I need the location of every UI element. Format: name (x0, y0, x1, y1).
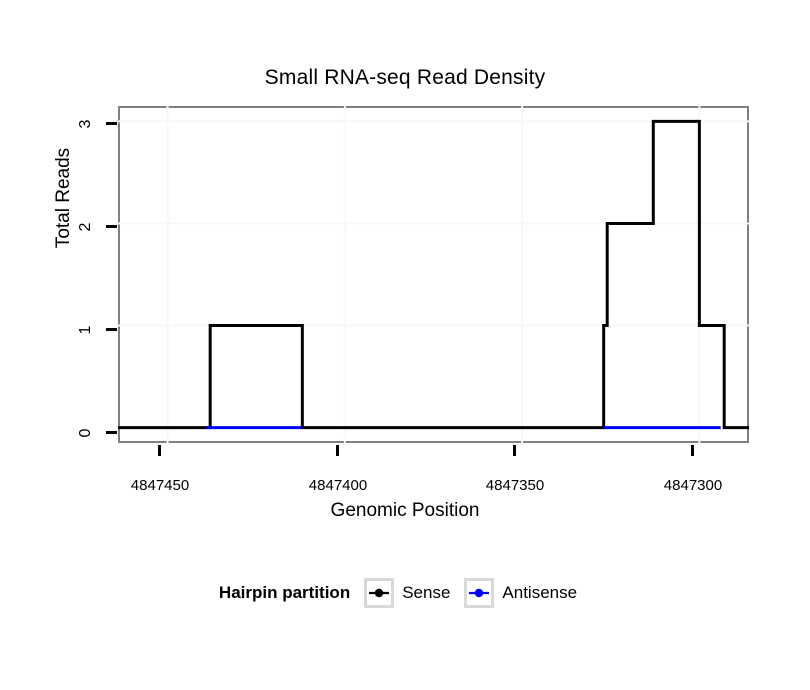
y-axis-title: Total Reads (53, 118, 75, 278)
y-tick-label-2: 2 (77, 215, 95, 239)
chart-title: Small RNA-seq Read Density (0, 66, 810, 90)
legend-title: Hairpin partition (219, 583, 350, 603)
legend: Hairpin partition Sense Antisense (0, 578, 810, 608)
legend-item-sense[interactable]: Sense (364, 578, 450, 608)
x-tick-mark-4847300 (691, 445, 694, 456)
x-tick-mark-4847450 (158, 445, 161, 456)
x-axis-title: Genomic Position (0, 500, 810, 522)
x-tick-label-4847400: 4847400 (309, 477, 367, 494)
plot-area (118, 106, 749, 443)
line-point-icon (468, 582, 490, 604)
line-point-icon (368, 582, 390, 604)
x-tick-label-4847300: 4847300 (664, 477, 722, 494)
y-tick-mark-0 (106, 431, 117, 434)
x-tick-mark-4847400 (336, 445, 339, 456)
x-tick-mark-4847350 (513, 445, 516, 456)
legend-label-sense: Sense (402, 583, 450, 603)
x-tick-label-4847350: 4847350 (486, 477, 544, 494)
y-tick-label-3: 3 (77, 112, 95, 136)
legend-item-antisense[interactable]: Antisense (464, 578, 577, 608)
chart-figure: Small RNA-seq Read Density Total Reads 3… (0, 0, 810, 690)
x-tick-label-4847450: 4847450 (131, 477, 189, 494)
series-line-sense (118, 121, 749, 427)
y-tick-mark-1 (106, 328, 117, 331)
legend-label-antisense: Antisense (502, 583, 577, 603)
data-series-layer (118, 121, 749, 427)
y-tick-label-1: 1 (77, 318, 95, 342)
legend-key-antisense (464, 578, 494, 608)
plot-panel (118, 106, 749, 443)
y-tick-mark-3 (106, 122, 117, 125)
y-tick-mark-2 (106, 225, 117, 228)
y-tick-label-0: 0 (77, 421, 95, 445)
legend-key-sense (364, 578, 394, 608)
